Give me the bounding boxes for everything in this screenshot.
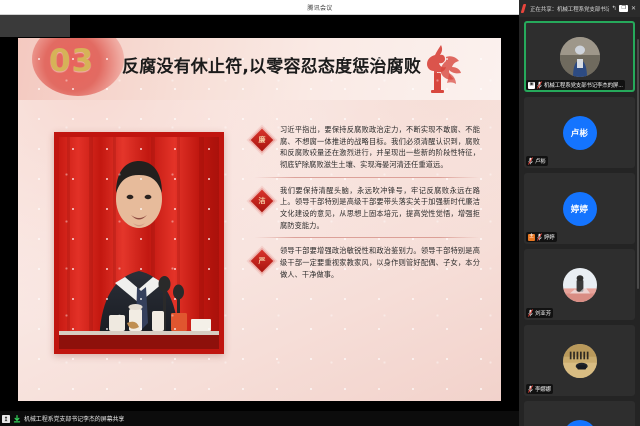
participant-video-panel: ▣ 机械工程系党支部书记李杰的屏... 卢彬 [519,17,640,426]
shared-screen-stage: 03 反腐没有休止符,以零容忍态度惩治腐败 [0,15,519,411]
shared-desktop-edge [0,15,70,37]
presentation-slide: 03 反腐没有休止符,以零容忍态度惩治腐败 [18,38,501,401]
pin-icon[interactable] [2,415,10,423]
slide-paragraph: 习近平指出，要保持反腐败政治定力，不断实现不敢腐、不能腐、不想腐一体推进的战略目… [280,124,480,171]
participant-tile[interactable]: 婷婷 主 婷婷 [524,173,635,244]
participant-name: 李娜娜 [535,385,551,393]
window-controls: ↰ ❐ ✕ [611,5,638,12]
participant-panel-scrollbar[interactable] [637,39,639,289]
diamond-marker-icon: 廉 [251,129,274,152]
participant-name-chip: 卢彬 [526,156,548,166]
tencent-meeting-logo-icon [521,4,528,13]
avatar-initials: 婷婷 [571,203,589,215]
avatar [560,37,600,77]
avatar [563,268,597,302]
os-window-title: 腾讯会议 [307,3,332,12]
participant-tile[interactable]: 红艳 红艳 [524,401,635,426]
host-badge-icon: 主 [528,234,535,241]
participant-name-chip: 主 婷婷 [526,232,557,242]
diamond-marker-label: 严 [259,258,266,265]
participant-tile[interactable]: 李娜娜 [524,325,635,396]
screen-share-badge-icon: ▣ [528,82,535,89]
microphone-muted-icon [537,81,542,89]
participant-name: 机械工程系党支部书记李杰的屏... [544,81,623,89]
participant-name: 卢彬 [535,157,546,165]
slide-photo [59,137,219,349]
avatar: 卢彬 [563,116,597,150]
back-icon[interactable]: ↰ [611,6,616,12]
text-divider [254,177,480,178]
meeting-window-titlebar[interactable]: 正在共享：机械工程系党支部书记李杰的屏幕 ↰ ❐ ✕ [519,0,640,17]
participant-tile[interactable]: ▣ 机械工程系党支部书记李杰的屏... [524,21,635,92]
participant-tile[interactable]: 刘亚芳 [524,249,635,320]
slide-header-band: 03 反腐没有休止符,以零容忍态度惩治腐败 [18,38,501,100]
download-icon[interactable] [13,415,21,423]
diamond-marker-label: 廉 [259,137,266,144]
participant-name: 刘亚芳 [535,309,551,317]
microphone-muted-icon [528,157,533,165]
participant-name-chip: 李娜娜 [526,384,553,394]
slide-text-block: 洁 我们要保持清醒头脑，永远吹冲锋号，牢记反腐败永远在路上。领导干部特别是高级干… [254,185,480,232]
screen-root: 腾讯会议 正在共享：机械工程系党支部书记李杰的屏幕 ↰ ❐ ✕ 03 反腐没有休… [0,0,640,426]
microphone-muted-icon [537,233,542,241]
slide-text-block: 廉 习近平指出，要保持反腐败政治定力，不断实现不敢腐、不能腐、不想腐一体推进的战… [254,124,480,171]
slide-text-column: 廉 习近平指出，要保持反腐败政治定力，不断实现不敢腐、不能腐、不想腐一体推进的战… [254,124,480,285]
screen-share-status-text: 机械工程系党支部书记李杰的屏幕共享 [24,414,124,423]
close-window-icon[interactable]: ✕ [631,6,636,12]
red-torch-decoration-icon [419,43,465,95]
participant-name-chip: 刘亚芳 [526,308,553,318]
avatar: 红艳 [563,420,597,426]
microphone-muted-icon [528,385,533,393]
participant-name: 婷婷 [544,233,555,241]
restore-window-icon[interactable]: ❐ [619,5,627,12]
avatar: 婷婷 [563,192,597,226]
slide-section-number: 03 [49,46,94,77]
participant-tile[interactable]: 卢彬 卢彬 [524,97,635,168]
participant-name-chip: ▣ 机械工程系党支部书记李杰的屏... [526,80,625,90]
slide-paragraph: 我们要保持清醒头脑，永远吹冲锋号，牢记反腐败永远在路上。领导干部特别是高级干部要… [280,185,480,232]
avatar [563,344,597,378]
diamond-marker-icon: 洁 [251,189,274,212]
meeting-window-title: 正在共享：机械工程系党支部书记李杰的屏幕 [530,5,609,13]
diamond-marker-icon: 严 [251,250,274,273]
avatar-initials: 卢彬 [571,127,589,139]
diamond-marker-label: 洁 [259,197,266,204]
slide-paragraph: 领导干部要增强政治敏锐性和政治鉴别力。领导干部特别是高级干部一定要重视家教家风，… [280,245,480,280]
slide-photo-frame [54,132,224,354]
slide-text-block: 严 领导干部要增强政治敏锐性和政治鉴别力。领导干部特别是高级干部一定要重视家教家… [254,245,480,280]
microphone-muted-icon [528,309,533,317]
slide-title: 反腐没有休止符,以零容忍态度惩治腐败 [122,52,421,77]
screen-share-statusbar: 机械工程系党支部书记李杰的屏幕共享 [0,411,519,426]
text-divider [254,237,480,238]
